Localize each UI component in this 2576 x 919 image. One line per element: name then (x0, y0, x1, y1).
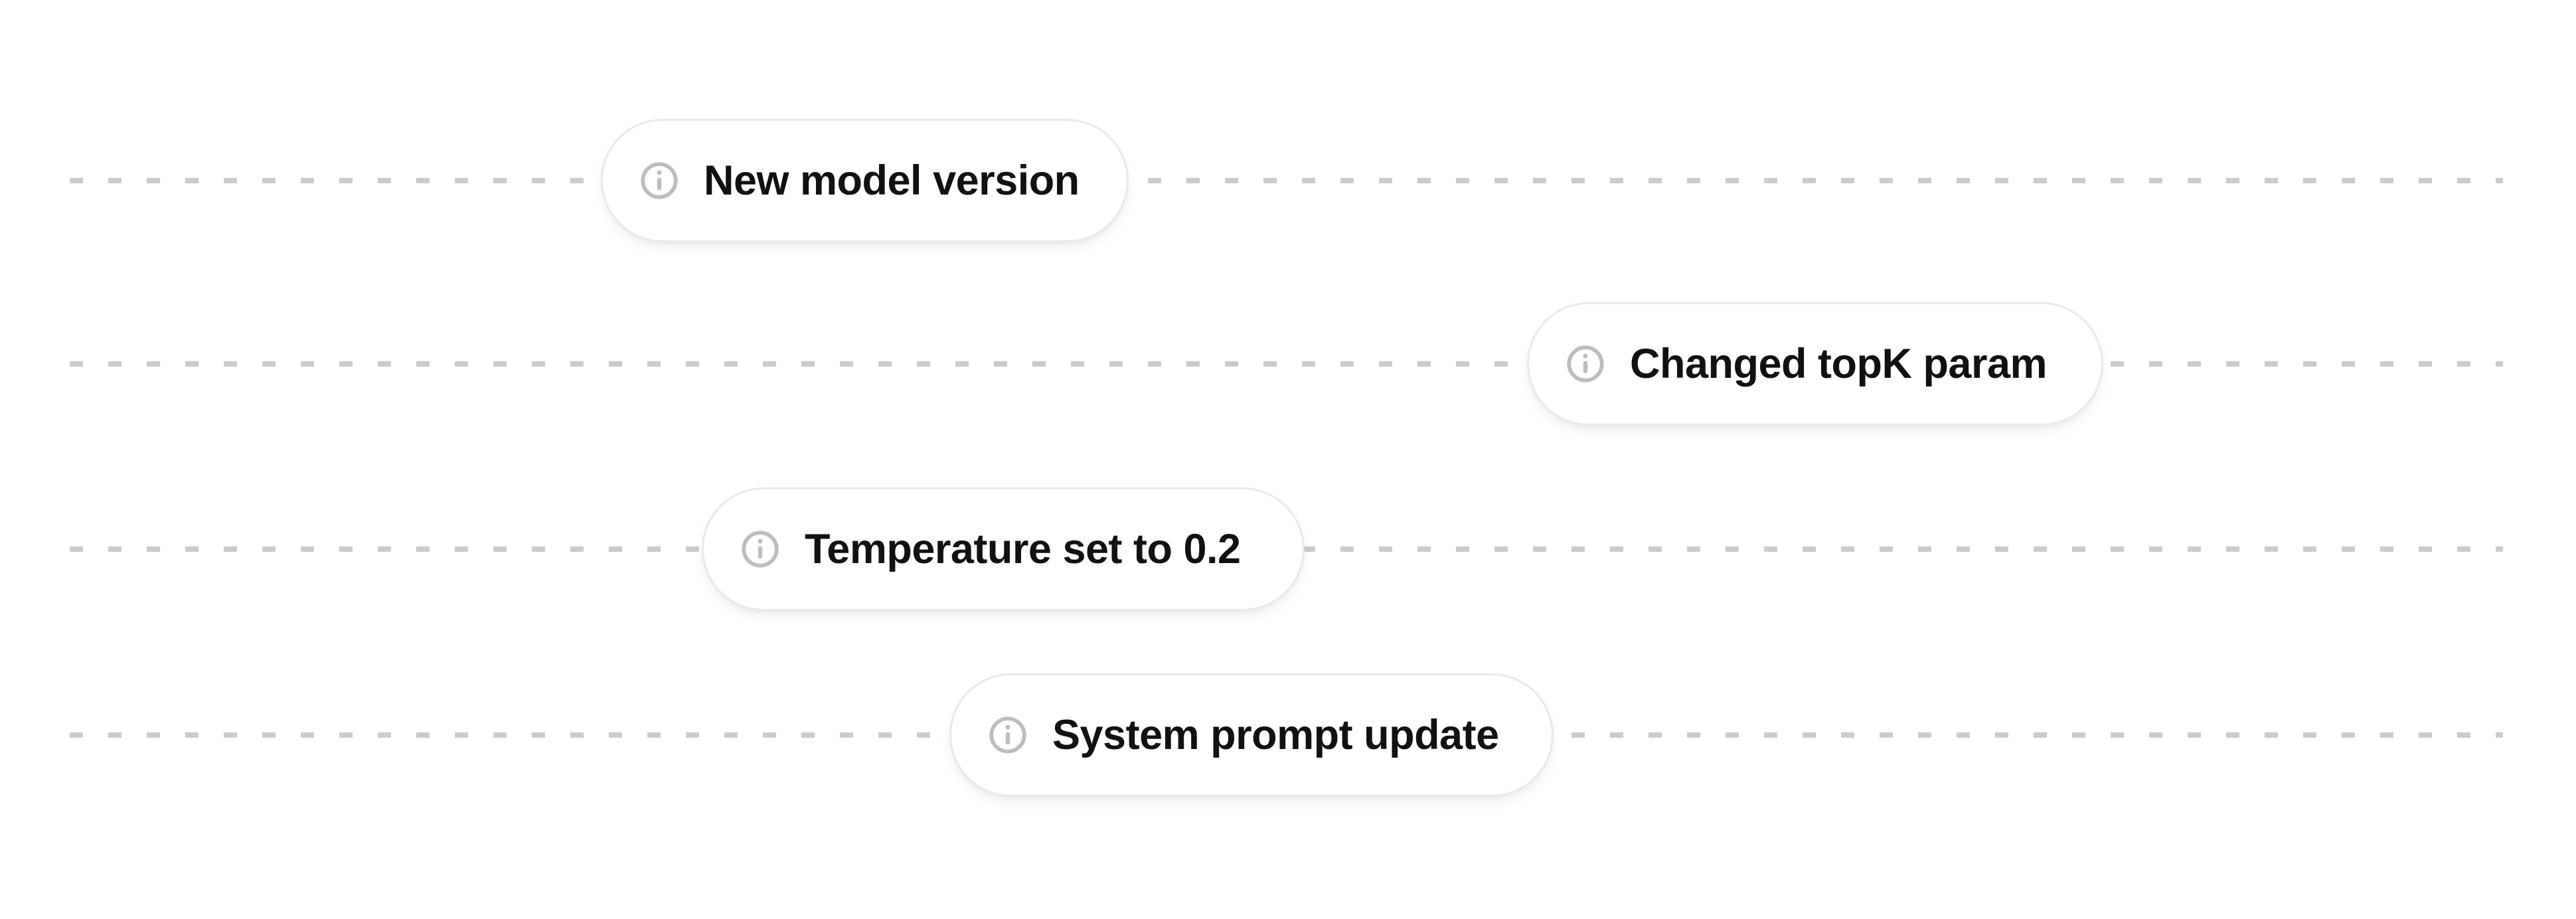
timeline-event-pill[interactable]: Temperature set to 0.2 (702, 487, 1305, 611)
timeline-event-label: System prompt update (1052, 714, 1499, 756)
timeline-dashed-rail (70, 361, 2503, 367)
timeline-event-pill[interactable]: System prompt update (949, 673, 1554, 797)
timeline-dashed-rail (70, 178, 2503, 183)
timeline-row: New model version (0, 114, 2576, 247)
timeline-event-pill[interactable]: New model version (601, 119, 1129, 242)
timeline-event-label: New model version (704, 160, 1080, 202)
info-circle-icon (1565, 343, 1606, 384)
timeline-row: System prompt update (0, 669, 2576, 801)
info-circle-icon (740, 529, 781, 570)
timeline-event-label: Changed topK param (1630, 343, 2047, 385)
info-circle-icon (987, 714, 1028, 756)
timeline-row: Temperature set to 0.2 (0, 483, 2576, 616)
info-circle-icon (639, 160, 680, 201)
timeline-event-label: Temperature set to 0.2 (805, 529, 1241, 570)
timeline-event-pill[interactable]: Changed topK param (1527, 302, 2103, 426)
timeline-row: Changed topK param (0, 297, 2576, 430)
event-timeline: New model versionChanged topK paramTempe… (0, 0, 2576, 919)
